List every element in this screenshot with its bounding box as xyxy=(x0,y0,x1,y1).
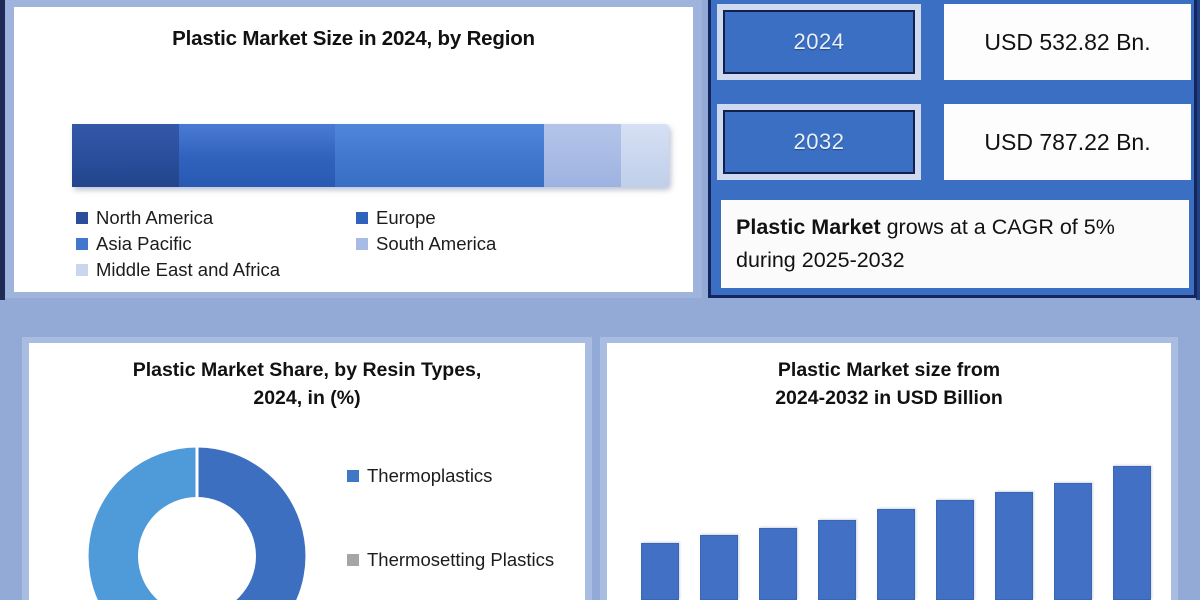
legend-label: Thermosetting Plastics xyxy=(367,549,554,571)
year-badge-2032: 2032 xyxy=(717,104,921,180)
market-size-panel: Plastic Market size from 2024-2032 in US… xyxy=(600,337,1178,600)
kpi-row-2024: 2024 USD 532.82 Bn. xyxy=(717,4,1191,80)
legend-item-asia-pacific: Asia Pacific xyxy=(76,233,356,255)
bar-slot xyxy=(749,455,808,600)
year-badge-label: 2032 xyxy=(723,110,915,174)
bar-slot xyxy=(1043,455,1102,600)
bar-2031 xyxy=(1054,483,1092,600)
market-size-bar-chart xyxy=(631,455,1161,600)
legend-label: Europe xyxy=(376,207,436,229)
market-size-panel-title: Plastic Market size from 2024-2032 in US… xyxy=(617,357,1161,412)
kpi-value-2024: USD 532.82 Bn. xyxy=(944,4,1191,80)
legend-item-middle-east-and-africa: Middle East and Africa xyxy=(76,259,356,281)
bar-slot xyxy=(984,455,1043,600)
stacked-segment-asia-pacific xyxy=(335,124,544,187)
bar-2027 xyxy=(818,520,856,600)
region-panel-title: Plastic Market Size in 2024, by Region xyxy=(14,27,693,51)
region-panel-body: Plastic Market Size in 2024, by Region N… xyxy=(14,7,693,292)
bar-slot xyxy=(1102,455,1161,600)
market-size-panel-body: Plastic Market size from 2024-2032 in US… xyxy=(607,343,1171,600)
legend-item-thermosetting-plastics: Thermosetting Plastics xyxy=(347,549,597,571)
bar-2024 xyxy=(641,543,679,600)
size-title-line-1: Plastic Market size from xyxy=(617,357,1161,385)
cagr-bold-term: Plastic Market xyxy=(736,215,881,239)
resin-share-panel: Plastic Market Share, by Resin Types, 20… xyxy=(22,337,592,600)
kpi-value-2032: USD 787.22 Bn. xyxy=(944,104,1191,180)
bar-2026 xyxy=(759,528,797,600)
legend-swatch-icon xyxy=(347,554,359,566)
legend-label: South America xyxy=(376,233,496,255)
year-badge-2024: 2024 xyxy=(717,4,921,80)
resin-share-panel-title: Plastic Market Share, by Resin Types, 20… xyxy=(47,357,567,412)
bar-slot xyxy=(631,455,690,600)
resin-title-line-2: 2024, in (%) xyxy=(47,385,567,413)
year-badge-label: 2024 xyxy=(723,10,915,74)
cagr-statement: Plastic Market grows at a CAGR of 5% dur… xyxy=(721,200,1189,288)
bar-2030 xyxy=(995,492,1033,600)
resin-share-panel-body: Plastic Market Share, by Resin Types, 20… xyxy=(29,343,585,600)
bar-2029 xyxy=(936,500,974,600)
legend-item-north-america: North America xyxy=(76,207,356,229)
infographic-page: Plastic Market Size in 2024, by Region N… xyxy=(0,0,1200,600)
size-title-line-2: 2024-2032 in USD Billion xyxy=(617,385,1161,413)
donut-svg xyxy=(71,430,323,600)
region-stacked-bar xyxy=(72,124,669,187)
bar-slot xyxy=(925,455,984,600)
resin-donut-chart xyxy=(71,430,323,600)
bar-slot xyxy=(867,455,926,600)
legend-item-thermoplastics: Thermoplastics xyxy=(347,465,597,487)
bar-slot xyxy=(808,455,867,600)
kpi-panel: 2024 USD 532.82 Bn. 2032 USD 787.22 Bn. … xyxy=(708,0,1197,298)
bar-2028 xyxy=(877,509,915,600)
bar-2032 xyxy=(1113,466,1151,600)
legend-label: Asia Pacific xyxy=(96,233,192,255)
bar-slot xyxy=(690,455,749,600)
legend-label: Thermoplastics xyxy=(367,465,492,487)
resin-title-line-1: Plastic Market Share, by Resin Types, xyxy=(47,357,567,385)
legend-swatch-icon xyxy=(76,212,88,224)
stacked-segment-south-america xyxy=(544,124,622,187)
resin-legend: Thermoplastics Thermosetting Plastics xyxy=(347,465,597,600)
stacked-segment-europe xyxy=(179,124,334,187)
legend-item-europe: Europe xyxy=(356,207,636,229)
legend-swatch-icon xyxy=(356,238,368,250)
kpi-row-2032: 2032 USD 787.22 Bn. xyxy=(717,104,1191,180)
legend-swatch-icon xyxy=(356,212,368,224)
legend-swatch-icon xyxy=(347,470,359,482)
region-panel: Plastic Market Size in 2024, by Region N… xyxy=(5,0,702,298)
bar-2025 xyxy=(700,535,738,600)
legend-item-south-america: South America xyxy=(356,233,636,255)
stacked-segment-north-america xyxy=(72,124,179,187)
legend-label: Middle East and Africa xyxy=(96,259,280,281)
region-legend: North America Europe Asia Pacific South … xyxy=(76,207,636,285)
stacked-segment-middle-east-and-africa xyxy=(621,124,669,187)
legend-label: North America xyxy=(96,207,213,229)
legend-swatch-icon xyxy=(76,238,88,250)
legend-swatch-icon xyxy=(76,264,88,276)
